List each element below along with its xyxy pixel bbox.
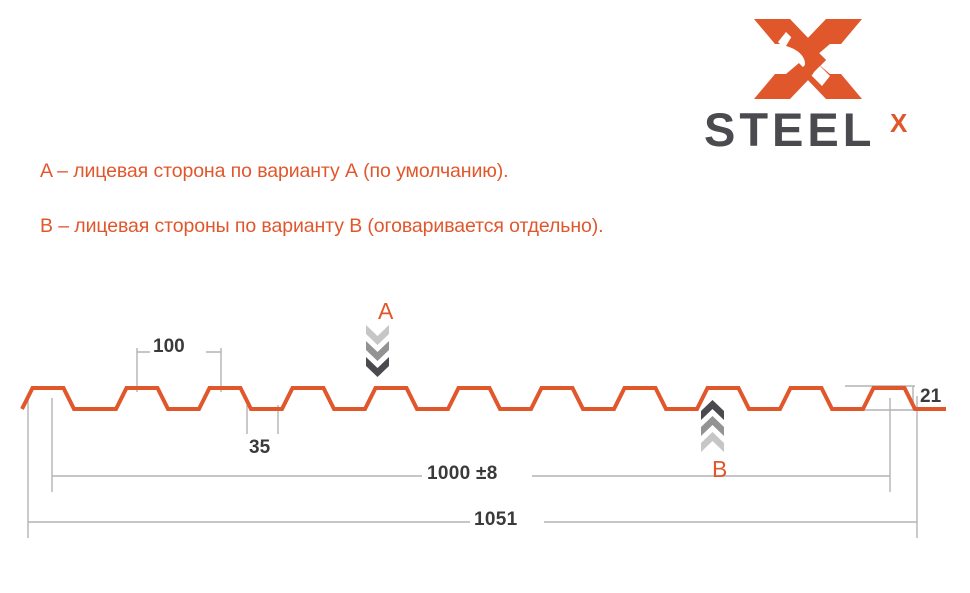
dimension-label-backgrounds — [150, 338, 544, 535]
marker-label-a: A — [378, 298, 393, 325]
marker-label-b: B — [712, 456, 727, 483]
dimension-label-total-width: 1051 — [474, 509, 517, 531]
triple-chevron-down-icon — [366, 325, 389, 377]
sheet-profile-polyline — [22, 388, 946, 409]
dimension-label-useful-width: 1000 ±8 — [427, 463, 498, 485]
profile-technical-drawing — [0, 0, 970, 593]
triple-chevron-up-icon — [701, 400, 724, 452]
dimension-label-pitch: 100 — [153, 336, 185, 358]
drawing-page: STEEL X A – лицевая сторона по варианту … — [0, 0, 970, 593]
dimension-lines — [28, 352, 917, 522]
dimension-label-profile-height: 21 — [920, 386, 941, 408]
dimension-label-valley-width: 35 — [249, 437, 270, 459]
